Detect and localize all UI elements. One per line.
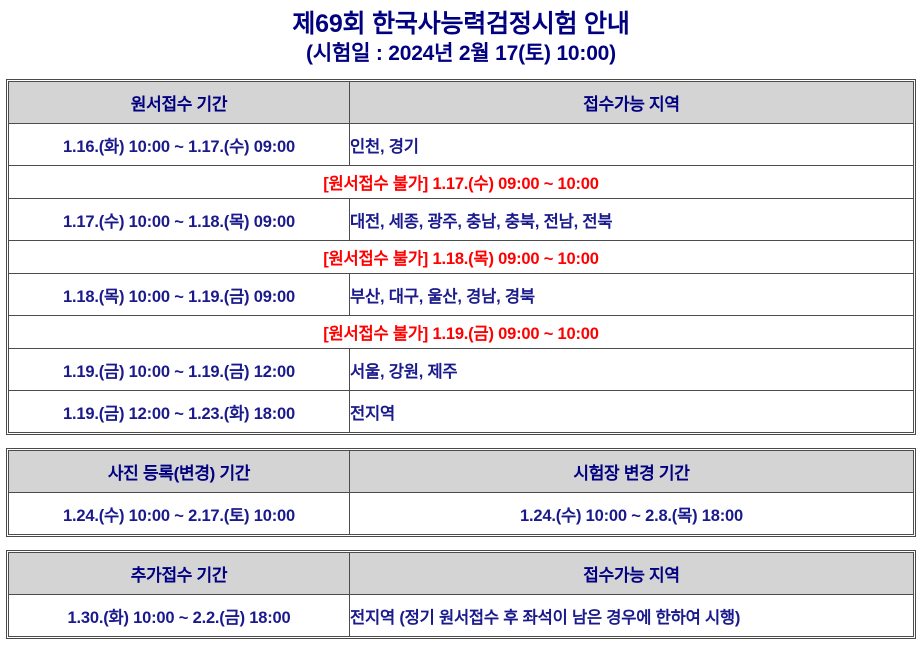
cell-blocked-notice: [원서접수 불가] 1.19.(금) 09:00 ~ 10:00 <box>9 316 914 349</box>
table-header-row: 사진 등록(변경) 기간 시험장 변경 기간 <box>9 451 914 493</box>
column-header-venue-period: 시험장 변경 기간 <box>350 451 914 493</box>
cell-blocked-notice: [원서접수 불가] 1.18.(목) 09:00 ~ 10:00 <box>9 241 914 274</box>
table-additional-application-wrapper: 추가접수 기간 접수가능 지역 1.30.(화) 10:00 ~ 2.2.(금)… <box>6 550 916 639</box>
table-photo-venue-wrapper: 사진 등록(변경) 기간 시험장 변경 기간 1.24.(수) 10:00 ~ … <box>6 448 916 537</box>
table-additional-application-schedule: 추가접수 기간 접수가능 지역 1.30.(화) 10:00 ~ 2.2.(금)… <box>8 552 914 637</box>
cell-region: 대전, 세종, 광주, 충남, 충북, 전남, 전북 <box>350 199 914 241</box>
column-header-region: 접수가능 지역 <box>350 82 914 124</box>
table-application-schedule: 원서접수 기간 접수가능 지역 1.16.(화) 10:00 ~ 1.17.(수… <box>8 81 914 433</box>
column-header-additional-region: 접수가능 지역 <box>350 553 914 595</box>
column-header-photo-period: 사진 등록(변경) 기간 <box>9 451 350 493</box>
cell-period: 1.19.(금) 10:00 ~ 1.19.(금) 12:00 <box>9 349 350 391</box>
exam-notice-page: 제69회 한국사능력검정시험 안내 (시험일 : 2024년 2월 17(토) … <box>0 0 922 672</box>
column-header-period: 원서접수 기간 <box>9 82 350 124</box>
cell-period: 1.17.(수) 10:00 ~ 1.18.(목) 09:00 <box>9 199 350 241</box>
table-row: 1.30.(화) 10:00 ~ 2.2.(금) 18:00 전지역 (정기 원… <box>9 595 914 637</box>
page-title: 제69회 한국사능력검정시험 안내 (시험일 : 2024년 2월 17(토) … <box>0 0 922 68</box>
table-row: 1.16.(화) 10:00 ~ 1.17.(수) 09:00 인천, 경기 <box>9 124 914 166</box>
cell-region: 인천, 경기 <box>350 124 914 166</box>
table-row-blocked: [원서접수 불가] 1.18.(목) 09:00 ~ 10:00 <box>9 241 914 274</box>
table-photo-venue-schedule: 사진 등록(변경) 기간 시험장 변경 기간 1.24.(수) 10:00 ~ … <box>8 450 914 535</box>
cell-region: 부산, 대구, 울산, 경남, 경북 <box>350 274 914 316</box>
page-title-main: 제69회 한국사능력검정시험 안내 <box>0 9 922 40</box>
cell-photo-period: 1.24.(수) 10:00 ~ 2.17.(토) 10:00 <box>9 493 350 535</box>
table-row: 1.19.(금) 10:00 ~ 1.19.(금) 12:00 서울, 강원, … <box>9 349 914 391</box>
cell-period: 1.18.(목) 10:00 ~ 1.19.(금) 09:00 <box>9 274 350 316</box>
cell-period: 1.19.(금) 12:00 ~ 1.23.(화) 18:00 <box>9 391 350 433</box>
table-row: 1.18.(목) 10:00 ~ 1.19.(금) 09:00 부산, 대구, … <box>9 274 914 316</box>
column-header-additional-period: 추가접수 기간 <box>9 553 350 595</box>
table-header-row: 원서접수 기간 접수가능 지역 <box>9 82 914 124</box>
table-header-row: 추가접수 기간 접수가능 지역 <box>9 553 914 595</box>
cell-region: 전지역 <box>350 391 914 433</box>
table-row: 1.24.(수) 10:00 ~ 2.17.(토) 10:00 1.24.(수)… <box>9 493 914 535</box>
cell-additional-period: 1.30.(화) 10:00 ~ 2.2.(금) 18:00 <box>9 595 350 637</box>
table-row: 1.19.(금) 12:00 ~ 1.23.(화) 18:00 전지역 <box>9 391 914 433</box>
cell-period: 1.16.(화) 10:00 ~ 1.17.(수) 09:00 <box>9 124 350 166</box>
cell-additional-region: 전지역 (정기 원서접수 후 좌석이 남은 경우에 한하여 시행) <box>350 595 914 637</box>
table-row-blocked: [원서접수 불가] 1.19.(금) 09:00 ~ 10:00 <box>9 316 914 349</box>
page-title-subtitle: (시험일 : 2024년 2월 17(토) 10:00) <box>0 40 922 68</box>
table-row-blocked: [원서접수 불가] 1.17.(수) 09:00 ~ 10:00 <box>9 166 914 199</box>
cell-blocked-notice: [원서접수 불가] 1.17.(수) 09:00 ~ 10:00 <box>9 166 914 199</box>
cell-venue-period: 1.24.(수) 10:00 ~ 2.8.(목) 18:00 <box>350 493 914 535</box>
table-row: 1.17.(수) 10:00 ~ 1.18.(목) 09:00 대전, 세종, … <box>9 199 914 241</box>
cell-region: 서울, 강원, 제주 <box>350 349 914 391</box>
table-application-schedule-wrapper: 원서접수 기간 접수가능 지역 1.16.(화) 10:00 ~ 1.17.(수… <box>6 79 916 435</box>
